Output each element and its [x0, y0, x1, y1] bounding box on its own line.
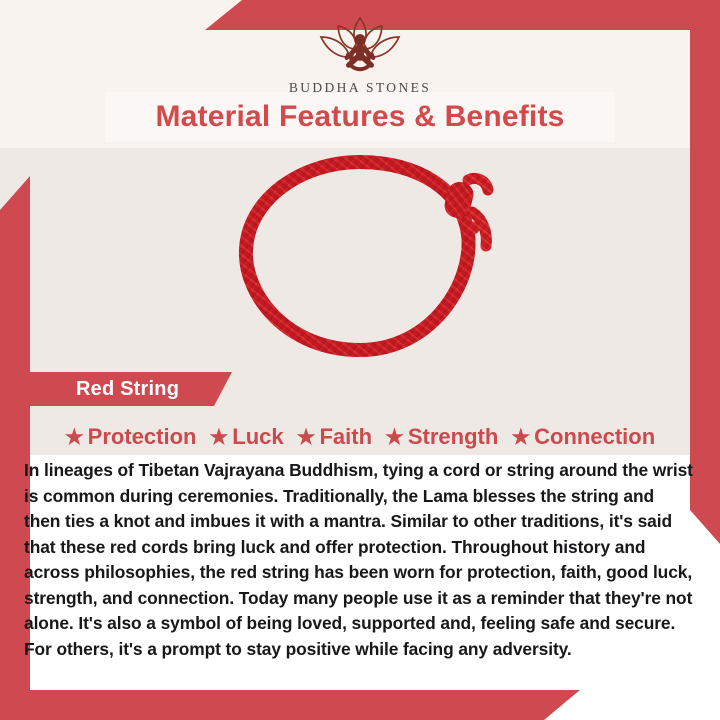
feature-item-connection: ★ Connection	[511, 424, 655, 450]
brand-name: BUDDHA STONES	[289, 80, 431, 96]
star-icon: ★	[385, 427, 404, 448]
product-tag-label: Red String	[76, 378, 179, 401]
star-icon: ★	[511, 427, 530, 448]
decorative-bar-right	[690, 30, 720, 544]
star-icon: ★	[209, 427, 228, 448]
feature-item-strength: ★ Strength	[385, 424, 498, 450]
description-text: In lineages of Tibetan Vajrayana Buddhis…	[24, 458, 694, 662]
feature-item-luck: ★ Luck	[209, 424, 283, 450]
infographic-page: BUDDHA STONES Material Features & Benefi…	[0, 0, 720, 720]
feature-item-protection: ★ Protection	[65, 424, 197, 450]
feature-label: Luck	[232, 424, 283, 450]
star-icon: ★	[297, 427, 316, 448]
feature-label: Strength	[408, 424, 498, 450]
lotus-meditation-icon	[300, 14, 420, 76]
star-icon: ★	[65, 427, 84, 448]
feature-list: ★ Protection ★ Luck ★ Faith ★ Strength ★…	[30, 421, 690, 453]
page-title: Material Features & Benefits	[155, 100, 564, 134]
feature-label: Connection	[534, 424, 655, 450]
decorative-bar-bottom	[0, 690, 580, 720]
feature-item-faith: ★ Faith	[297, 424, 372, 450]
product-tag: Red String	[30, 372, 232, 406]
brand-logo: BUDDHA STONES	[0, 14, 720, 96]
product-image-red-string-bracelet	[200, 150, 520, 380]
feature-label: Protection	[88, 424, 197, 450]
feature-label: Faith	[319, 424, 372, 450]
title-banner: Material Features & Benefits	[105, 92, 615, 142]
